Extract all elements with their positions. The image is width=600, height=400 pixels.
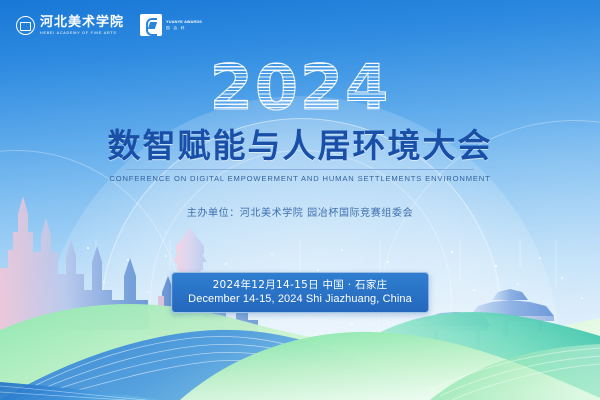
yuanye-name-cn: 园 冶 杯: [166, 26, 202, 31]
year-text: 2024: [210, 56, 391, 120]
academy-name-cn: 河北美术学院: [40, 15, 124, 30]
title-block: 数智赋能与人居环境大会 CONFERENCE ON DIGITAL EMPOWE…: [0, 126, 600, 221]
yuanye-cup-icon: [140, 14, 162, 36]
academy-logo[interactable]: 河北美术学院 HEBEI ACADEMY OF FINE ARTS: [16, 15, 124, 36]
yuanye-logo[interactable]: YUANYE AWARDS 园 冶 杯: [140, 14, 202, 36]
yuanye-name-en: YUANYE AWARDS: [166, 20, 202, 25]
conference-title-en: CONFERENCE ON DIGITAL EMPOWERMENT AND HU…: [0, 173, 600, 184]
circle-seal-icon: [16, 16, 35, 35]
conference-poster: 河北美术学院 HEBEI ACADEMY OF FINE ARTS YUANYE…: [0, 0, 600, 400]
organizer-line: 主办单位：河北美术学院 园冶杯国际竞赛组委会: [0, 207, 600, 221]
year-heading: 2024: [0, 56, 600, 120]
conference-title-cn: 数智赋能与人居环境大会: [0, 126, 600, 166]
date-line-en: December 14-15, 2024 Shi Jiazhuang, Chin…: [188, 292, 412, 306]
title-divider: [126, 169, 474, 170]
chinese-gateway-icon: [420, 289, 554, 361]
academy-name-en: HEBEI ACADEMY OF FINE ARTS: [40, 29, 128, 35]
date-line-cn: 2024年12月14-15日 中国 · 石家庄: [188, 278, 412, 292]
logo-bar: 河北美术学院 HEBEI ACADEMY OF FINE ARTS YUANYE…: [16, 14, 202, 36]
date-location-banner: 2024年12月14-15日 中国 · 石家庄 December 14-15, …: [171, 272, 429, 313]
